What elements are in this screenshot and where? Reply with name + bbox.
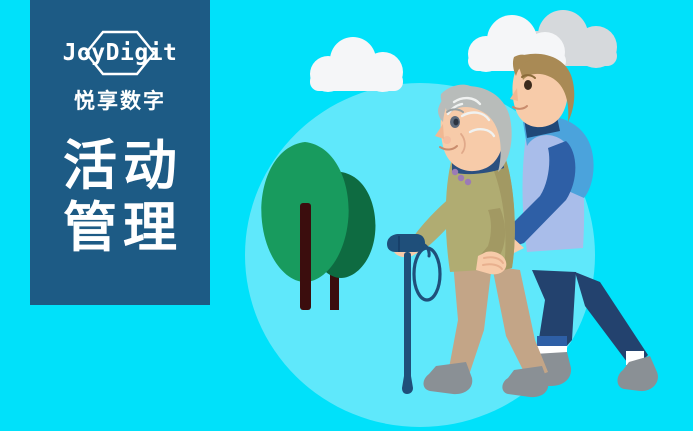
brand-panel: JoyDigit 悦享数字 活动 管理 [30,0,210,305]
logo-mark: JoyDigit [45,30,195,76]
headline-line-1: 活动 [30,135,210,197]
logo-chinese-name: 悦享数字 [30,85,210,115]
cloud-left-icon [310,37,403,92]
page-title: 活动 管理 [30,135,210,259]
poster-canvas: JoyDigit 悦享数字 活动 管理 [0,0,693,431]
headline-line-2: 管理 [30,197,210,259]
logo-block: JoyDigit 悦享数字 [30,30,210,115]
logo-wordmark: JoyDigit [45,30,195,76]
